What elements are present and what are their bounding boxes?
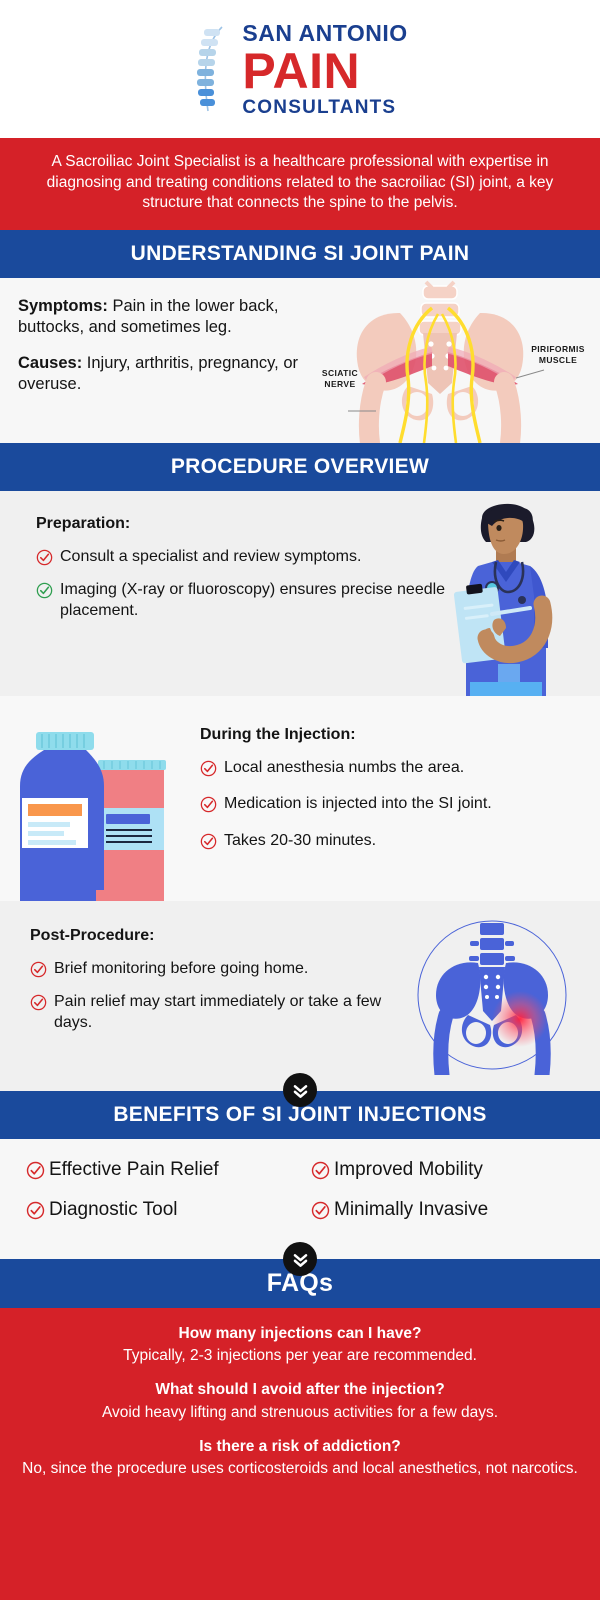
check-circle-icon	[200, 760, 217, 777]
list-item: Medication is injected into the SI joint…	[200, 794, 580, 814]
benefit-item: Effective Pain Relief	[26, 1159, 301, 1181]
faq-answer: Avoid heavy lifting and strenuous activi…	[18, 1403, 582, 1423]
list-item: Consult a specialist and review symptoms…	[36, 547, 466, 567]
list-item: Local anesthesia numbs the area.	[200, 758, 580, 778]
benefit-label: Diagnostic Tool	[49, 1199, 178, 1221]
list-item: Imaging (X-ray or fluoroscopy) ensures p…	[36, 580, 466, 621]
list-item: Pain relief may start immediately or tak…	[30, 992, 400, 1033]
check-circle-icon	[311, 1161, 330, 1180]
preparation-text: Preparation: Consult a specialist and re…	[36, 515, 466, 621]
check-circle-icon	[36, 582, 53, 599]
infographic-page: SAN ANTONIO PAIN CONSULTANTS A Sacroilia…	[0, 0, 600, 1600]
check-circle-icon	[36, 549, 53, 566]
list-item-label: Imaging (X-ray or fluoroscopy) ensures p…	[60, 580, 466, 621]
list-item-label: Pain relief may start immediately or tak…	[54, 992, 400, 1033]
check-circle-icon	[26, 1161, 45, 1180]
faq-answer: Typically, 2-3 injections per year are r…	[18, 1346, 582, 1366]
company-logo: SAN ANTONIO PAIN CONSULTANTS	[192, 22, 407, 117]
benefit-item: Minimally Invasive	[311, 1199, 586, 1221]
section-header-understanding: UNDERSTANDING SI JOINT PAIN	[0, 230, 600, 278]
post-procedure-list: Brief monitoring before going home. Pain…	[30, 959, 400, 1033]
chevron-badge-post-wrap	[0, 1073, 600, 1107]
post-procedure-section: Post-Procedure: Brief monitoring before …	[0, 901, 600, 1091]
logo-line-2: PAIN	[242, 46, 360, 96]
faq-answer: No, since the procedure uses corticoster…	[18, 1459, 582, 1479]
intro-banner: A Sacroiliac Joint Specialist is a healt…	[0, 138, 600, 230]
medicine-bottles-illustration	[0, 722, 200, 902]
pelvis-diagram-illustration	[412, 915, 572, 1075]
preparation-title: Preparation:	[36, 515, 466, 533]
faqs-section: How many injections can I have? Typicall…	[0, 1308, 600, 1600]
benefit-label: Minimally Invasive	[334, 1199, 488, 1221]
preparation-section: Preparation: Consult a specialist and re…	[0, 491, 600, 696]
list-item-label: Local anesthesia numbs the area.	[224, 758, 464, 778]
faq-question: How many injections can I have?	[18, 1324, 582, 1344]
list-item-label: Medication is injected into the SI joint…	[224, 794, 492, 814]
list-item-label: Consult a specialist and review symptoms…	[60, 547, 361, 567]
list-item: Takes 20-30 minutes.	[200, 831, 580, 851]
preparation-list: Consult a specialist and review symptoms…	[36, 547, 466, 621]
list-item: Brief monitoring before going home.	[30, 959, 400, 979]
logo-line-1: SAN ANTONIO	[242, 22, 407, 45]
label-sciatic-nerve: SCIATIC NERVE	[310, 368, 370, 390]
faq-item: What should I avoid after the injection?…	[18, 1380, 582, 1423]
section-header-procedure: PROCEDURE OVERVIEW	[0, 443, 600, 491]
check-circle-icon	[200, 833, 217, 850]
during-injection-text: During the Injection: Local anesthesia n…	[200, 722, 580, 867]
check-circle-icon	[311, 1201, 330, 1220]
faq-item: How many injections can I have? Typicall…	[18, 1324, 582, 1367]
list-item-label: Brief monitoring before going home.	[54, 959, 308, 979]
bottles-svg	[0, 722, 200, 902]
benefits-grid: Effective Pain Relief Improved Mobility …	[26, 1159, 586, 1221]
doctor-illustration	[430, 496, 580, 696]
list-item-label: Takes 20-30 minutes.	[224, 831, 376, 851]
spine-icon	[192, 25, 232, 113]
faq-question: Is there a risk of addiction?	[18, 1437, 582, 1457]
benefits-section: Effective Pain Relief Improved Mobility …	[0, 1139, 600, 1259]
benefit-item: Improved Mobility	[311, 1159, 586, 1181]
symptoms-label: Symptoms:	[18, 297, 108, 315]
logo-line-3: CONSULTANTS	[242, 98, 396, 117]
benefit-item: Diagnostic Tool	[26, 1199, 301, 1221]
post-procedure-title: Post-Procedure:	[30, 927, 400, 945]
logo-band: SAN ANTONIO PAIN CONSULTANTS	[0, 0, 600, 138]
check-circle-icon	[26, 1201, 45, 1220]
double-chevron-down-icon[interactable]	[283, 1073, 317, 1107]
during-injection-title: During the Injection:	[200, 726, 580, 744]
post-procedure-text: Post-Procedure: Brief monitoring before …	[30, 927, 400, 1033]
faq-question: What should I avoid after the injection?	[18, 1380, 582, 1400]
causes-label: Causes:	[18, 354, 82, 372]
benefit-label: Improved Mobility	[334, 1159, 483, 1181]
faq-item: Is there a risk of addiction? No, since …	[18, 1437, 582, 1480]
during-injection-section: During the Injection: Local anesthesia n…	[0, 696, 600, 901]
check-circle-icon	[200, 796, 217, 813]
double-chevron-down-icon[interactable]	[283, 1242, 317, 1276]
check-circle-icon	[30, 994, 47, 1011]
pelvis-anatomy-illustration: PIRIFORMIS MUSCLE SCIATIC NERVE	[280, 278, 600, 443]
understanding-section: Symptoms: Pain in the lower back, buttoc…	[0, 278, 600, 443]
during-injection-list: Local anesthesia numbs the area. Medicat…	[200, 758, 580, 851]
check-circle-icon	[30, 961, 47, 978]
chevron-badge-benefits-wrap	[0, 1242, 600, 1276]
benefit-label: Effective Pain Relief	[49, 1159, 219, 1181]
label-piriformis-muscle: PIRIFORMIS MUSCLE	[522, 344, 594, 366]
